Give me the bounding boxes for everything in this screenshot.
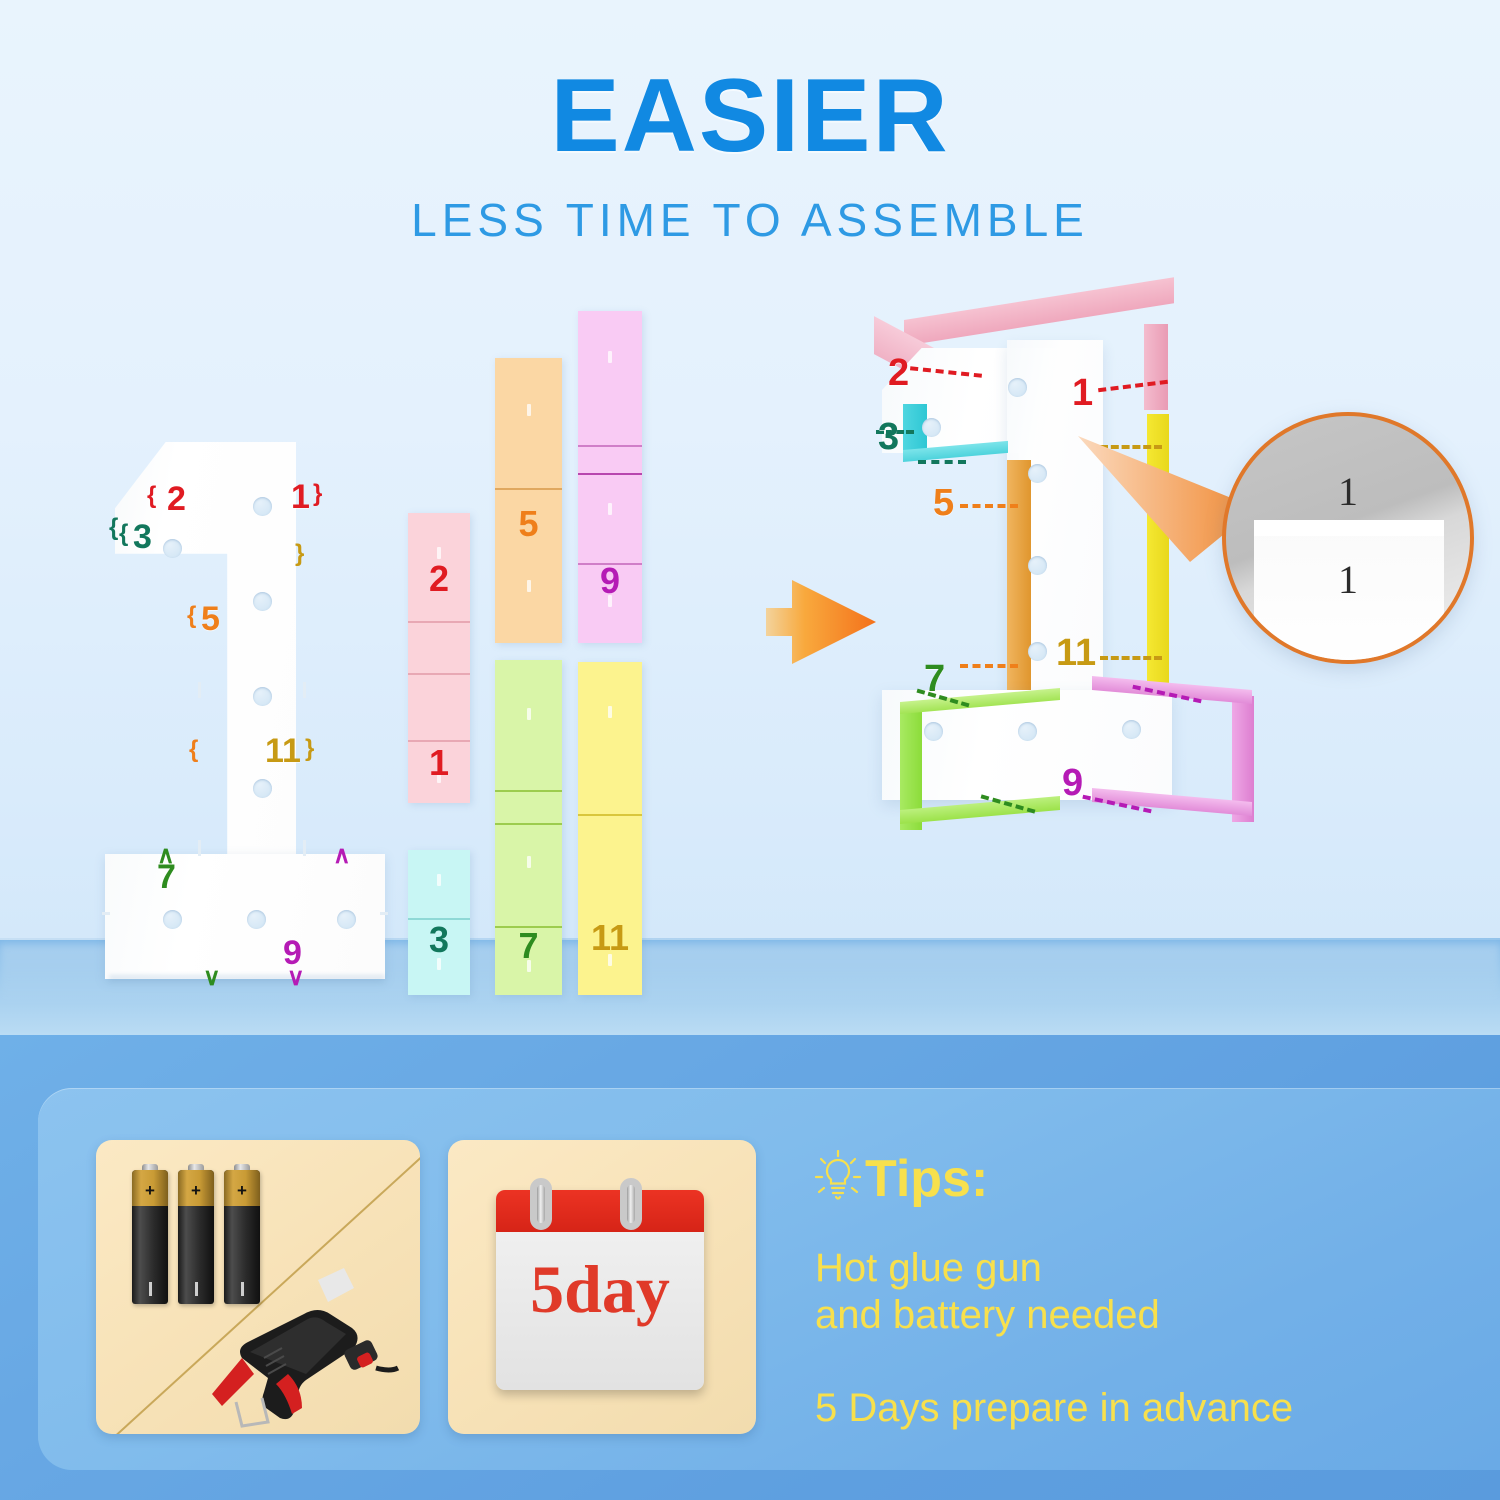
notch-marker-2: { bbox=[147, 484, 156, 508]
flat-label-2: 2 bbox=[167, 482, 186, 516]
notch-marker-11: } bbox=[305, 737, 314, 761]
flat-label-9: 9 bbox=[283, 936, 302, 970]
led-hole bbox=[163, 910, 182, 929]
led-hole bbox=[253, 687, 272, 706]
led-hole bbox=[253, 592, 272, 611]
strip-label-5: 5 bbox=[495, 506, 562, 542]
notch-marker-3b: { bbox=[109, 516, 118, 540]
header: EASIER LESS TIME TO ASSEMBLE bbox=[0, 62, 1500, 247]
leader-line-3b bbox=[918, 460, 966, 464]
assembled-label-11: 11 bbox=[1056, 634, 1096, 672]
led-hole bbox=[1008, 378, 1027, 397]
strip-pink: 2 1 bbox=[408, 513, 470, 803]
strip-orange: 5 bbox=[495, 358, 562, 643]
strip-cyan: 3 bbox=[408, 850, 470, 995]
strip-label-9: 9 bbox=[578, 563, 642, 599]
calendar-ring bbox=[620, 1178, 642, 1230]
leader-line-11 bbox=[1100, 656, 1162, 660]
assembled-strip-orange bbox=[1007, 460, 1031, 710]
assembled-label-3: 3 bbox=[878, 418, 899, 456]
battery-icon: + bbox=[132, 1170, 168, 1304]
assembled-label-7: 7 bbox=[924, 660, 945, 698]
led-hole bbox=[337, 910, 356, 929]
assembled-label-2: 2 bbox=[888, 354, 909, 392]
assembled-label-5: 5 bbox=[933, 484, 954, 522]
tips-block: Tips: Hot glue gun and battery needed 5 … bbox=[815, 1150, 1475, 1433]
led-hole bbox=[253, 779, 272, 798]
assembled-strip-pink-right bbox=[1144, 324, 1168, 410]
led-hole bbox=[253, 497, 272, 516]
strip-label-7: 7 bbox=[495, 928, 562, 964]
calendar-ring bbox=[530, 1178, 552, 1230]
calendar-icon: 5day bbox=[496, 1190, 704, 1390]
card-calendar: 5day bbox=[448, 1140, 756, 1434]
led-hole bbox=[247, 910, 266, 929]
led-hole bbox=[1122, 720, 1141, 739]
leader-line-5 bbox=[960, 504, 1018, 508]
notch-marker-9b: ∧ bbox=[333, 844, 351, 868]
notch-marker-1: } bbox=[313, 482, 322, 506]
card-tools: + + + bbox=[96, 1140, 420, 1434]
flat-panel-shadow bbox=[109, 975, 385, 984]
led-hole bbox=[924, 722, 943, 741]
lightbulb-icon bbox=[815, 1150, 861, 1211]
slot bbox=[102, 912, 110, 915]
notch-marker-11b: } bbox=[295, 542, 304, 566]
assembled-label-9: 9 bbox=[1062, 764, 1083, 802]
strip-yellow: 11 bbox=[578, 662, 642, 995]
led-hole bbox=[922, 418, 941, 437]
slot bbox=[303, 682, 306, 698]
tips-line-2: and battery needed bbox=[815, 1292, 1475, 1339]
notch-marker-3: { bbox=[119, 522, 128, 546]
magnifier-notch bbox=[1254, 520, 1444, 536]
assembled-number-one: 2 1 3 5 11 7 9 bbox=[860, 312, 1290, 1042]
flat-label-1: 1 bbox=[291, 480, 310, 514]
flat-label-5: 5 bbox=[201, 602, 220, 636]
strip-label-2: 2 bbox=[408, 561, 470, 597]
led-hole bbox=[1028, 642, 1047, 661]
notch-marker-5: { bbox=[187, 604, 196, 628]
slot bbox=[198, 840, 201, 856]
flat-label-7: 7 bbox=[157, 860, 176, 894]
tips-heading-row: Tips: bbox=[815, 1150, 1475, 1211]
tips-line-3: 5 Days prepare in advance bbox=[815, 1385, 1475, 1432]
led-hole bbox=[1028, 464, 1047, 483]
calendar-day-text: 5day bbox=[496, 1250, 704, 1329]
flat-label-3: 3 bbox=[133, 520, 152, 554]
tips-heading: Tips: bbox=[865, 1150, 988, 1208]
led-hole bbox=[1018, 722, 1037, 741]
glue-gun-icon bbox=[206, 1262, 416, 1432]
assembled-strip-green-bottom bbox=[900, 796, 1060, 824]
magnifier-top-number: 1 bbox=[1226, 468, 1470, 515]
leader-line-5b bbox=[960, 664, 1018, 668]
strip-green: 7 bbox=[495, 660, 562, 995]
flat-number-one-panel: { 2 } 1 { 3 { 5 } 11 { } ∧ 7 ∧ ∨ ∨ 9 { bbox=[105, 442, 405, 995]
strip-label-1: 1 bbox=[408, 745, 470, 781]
notch-marker-7b: ∨ bbox=[203, 966, 221, 990]
led-hole bbox=[1028, 556, 1047, 575]
slot bbox=[380, 912, 388, 915]
assembly-illustration-scene: EASIER LESS TIME TO ASSEMBLE { 2 } 1 { 3… bbox=[0, 0, 1500, 1060]
magnifier-bottom-number: 1 bbox=[1226, 556, 1470, 603]
tips-line-1: Hot glue gun bbox=[815, 1245, 1475, 1292]
strip-label-3: 3 bbox=[408, 922, 470, 958]
page-subtitle: LESS TIME TO ASSEMBLE bbox=[0, 193, 1500, 247]
slot bbox=[198, 682, 201, 698]
calendar-header bbox=[496, 1190, 704, 1232]
notch-marker-5b: { bbox=[189, 738, 198, 762]
strip-violet: 9 bbox=[578, 311, 642, 643]
detail-magnifier: 1 1 bbox=[1222, 412, 1474, 664]
strip-label-11: 11 bbox=[578, 920, 642, 956]
flat-label-11: 11 bbox=[265, 734, 301, 768]
assembled-label-1: 1 bbox=[1072, 374, 1093, 412]
slot bbox=[303, 840, 306, 856]
page-title: EASIER bbox=[0, 62, 1500, 171]
led-hole bbox=[163, 539, 182, 558]
